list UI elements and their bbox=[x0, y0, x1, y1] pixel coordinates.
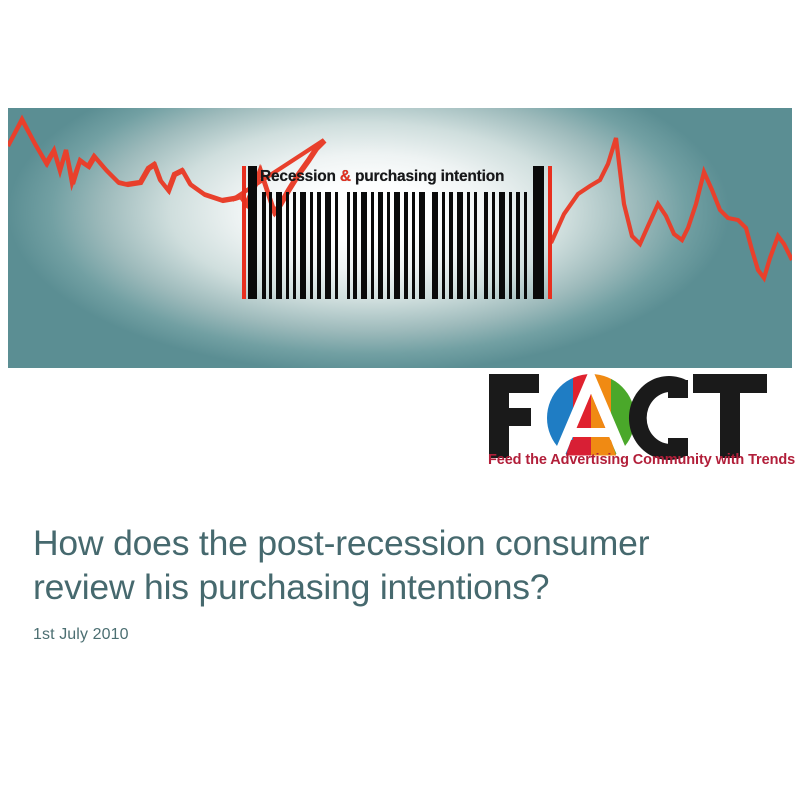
barcode-right-terminator bbox=[548, 166, 552, 299]
fact-logo: Feed the Advertising Community with Tren… bbox=[487, 368, 795, 480]
barcode-left-terminator bbox=[242, 166, 246, 299]
page-title: How does the post-recession consumer rev… bbox=[33, 521, 763, 609]
page-title-line-1: How does the post-recession consumer bbox=[33, 521, 763, 565]
barcode-graphic: Recession & purchasing intention bbox=[240, 166, 560, 299]
barcode-caption-ampersand: & bbox=[340, 168, 351, 185]
presentation-date: 1st July 2010 bbox=[33, 626, 763, 644]
barcode-caption-suffix: purchasing intention bbox=[351, 168, 504, 185]
trend-line-right bbox=[551, 138, 792, 278]
recession-banner-image: Recession & purchasing intention bbox=[8, 108, 792, 368]
page-title-line-2: review his purchasing intentions? bbox=[33, 565, 763, 609]
barcode-caption: Recession & purchasing intention bbox=[260, 166, 504, 188]
barcode-caption-prefix: Recession bbox=[260, 168, 340, 185]
logo-letter-a-wheel bbox=[547, 374, 637, 464]
logo-letter-t bbox=[693, 374, 767, 458]
logo-tagline: Feed the Advertising Community with Tren… bbox=[488, 452, 794, 468]
title-block: How does the post-recession consumer rev… bbox=[33, 521, 763, 644]
presentation-title-slide: Recession & purchasing intention bbox=[0, 0, 800, 800]
logo-letter-c bbox=[629, 376, 688, 460]
logo-letter-f bbox=[489, 374, 539, 458]
